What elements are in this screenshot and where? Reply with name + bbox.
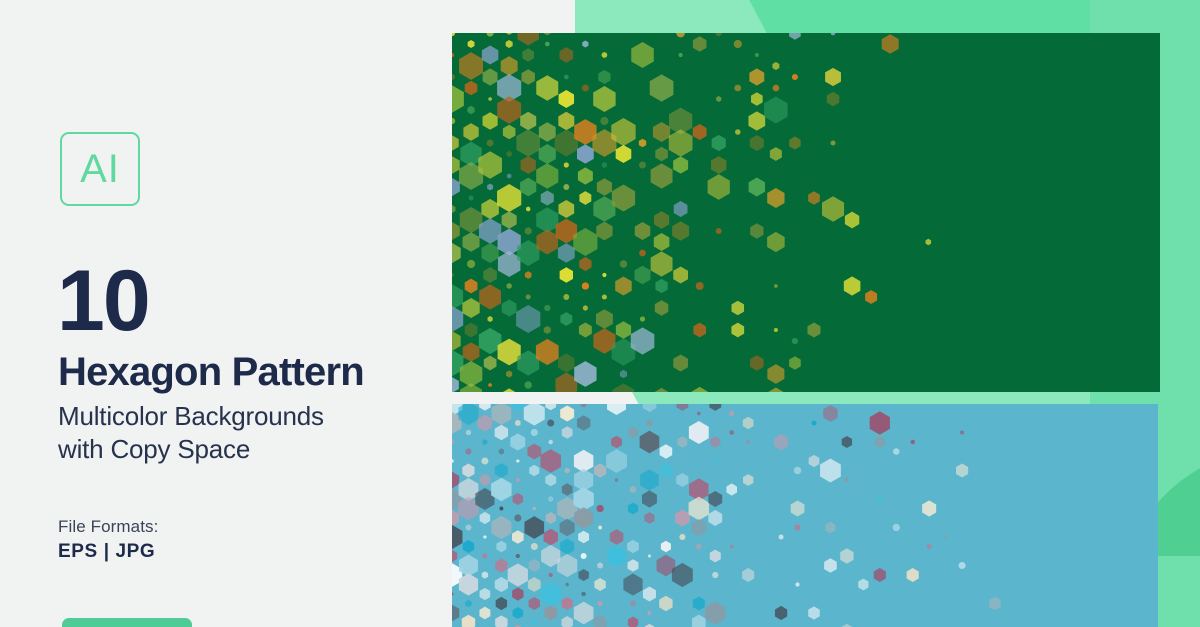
subtitle-line-1: Multicolor Backgrounds — [58, 400, 438, 433]
ai-badge: AI — [60, 132, 140, 206]
file-formats-value: EPS | JPG — [58, 541, 155, 563]
preview-canvas: AI 10 Hexagon Pattern Multicolor Backgro… — [0, 0, 1200, 627]
blue-hexagon-artwork — [452, 404, 1158, 627]
ai-badge-label: AI — [80, 149, 120, 189]
page-subtitle: Multicolor Backgrounds with Copy Space — [58, 400, 438, 467]
subtitle-line-2: with Copy Space — [58, 433, 438, 466]
blue-hexagon-panel — [452, 404, 1158, 627]
info-column: AI 10 Hexagon Pattern Multicolor Backgro… — [0, 0, 452, 627]
cta-button[interactable] — [62, 618, 192, 627]
green-hexagon-panel — [452, 33, 1160, 392]
file-formats-label: File Formats: — [58, 517, 158, 537]
page-title: Hexagon Pattern — [58, 352, 364, 392]
item-count: 10 — [57, 258, 149, 344]
mint-lower-corner-shape — [1158, 556, 1200, 627]
green-hexagon-artwork — [452, 33, 1160, 392]
